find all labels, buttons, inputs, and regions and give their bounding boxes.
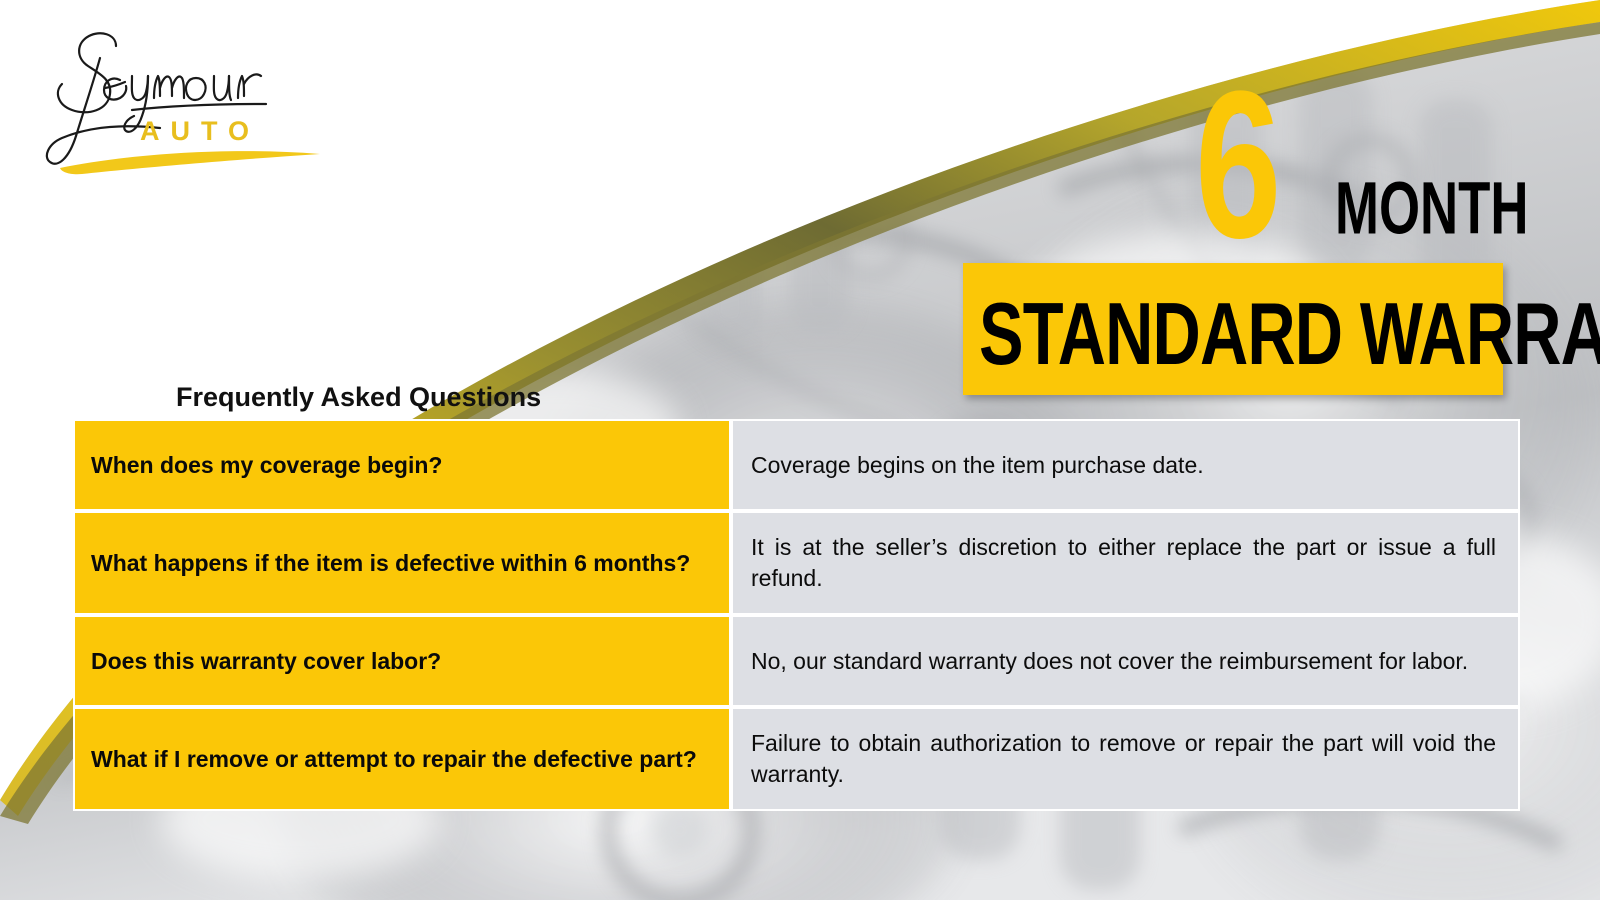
faq-question-text: What happens if the item is defective wi… [91, 548, 711, 579]
faq-answer-text: No, our standard warranty does not cover… [751, 646, 1496, 677]
faq-answer-text: Coverage begins on the item purchase dat… [751, 450, 1496, 481]
duration-number: 6 [1195, 60, 1277, 270]
standard-warranty-banner: STANDARD WARRANTY [963, 263, 1503, 395]
table-row: When does my coverage begin? Coverage be… [73, 419, 1520, 511]
faq-question-text: Does this warranty cover labor? [91, 646, 711, 677]
faq-question-cell: What happens if the item is defective wi… [73, 511, 731, 615]
faq-question-cell: Does this warranty cover labor? [73, 615, 731, 707]
table-row: What if I remove or attempt to repair th… [73, 707, 1520, 811]
faq-answer-text: Failure to obtain authorization to remov… [751, 728, 1496, 790]
duration-unit: MONTH [1335, 171, 1529, 245]
warranty-slide: AUTO 6 MONTH STANDARD WARRANTY Frequentl… [0, 0, 1600, 900]
standard-warranty-label: STANDARD WARRANTY [979, 289, 1403, 379]
faq-answer-cell: Coverage begins on the item purchase dat… [731, 419, 1520, 511]
faq-answer-cell: It is at the seller’s discretion to eith… [731, 511, 1520, 615]
faq-answer-cell: Failure to obtain authorization to remov… [731, 707, 1520, 811]
faq-answer-text: It is at the seller’s discretion to eith… [751, 532, 1496, 594]
faq-heading: Frequently Asked Questions [176, 381, 541, 413]
faq-answer-cell: No, our standard warranty does not cover… [731, 615, 1520, 707]
faq-question-text: When does my coverage begin? [91, 450, 711, 481]
table-row: What happens if the item is defective wi… [73, 511, 1520, 615]
faq-question-cell: What if I remove or attempt to repair th… [73, 707, 731, 811]
svg-text:AUTO: AUTO [140, 116, 260, 146]
faq-question-text: What if I remove or attempt to repair th… [91, 744, 711, 775]
faq-question-cell: When does my coverage begin? [73, 419, 731, 511]
seymour-auto-logo: AUTO [28, 18, 338, 178]
faq-table: When does my coverage begin? Coverage be… [73, 419, 1520, 811]
table-row: Does this warranty cover labor? No, our … [73, 615, 1520, 707]
warranty-duration-headline: 6 MONTH [1195, 78, 1535, 248]
